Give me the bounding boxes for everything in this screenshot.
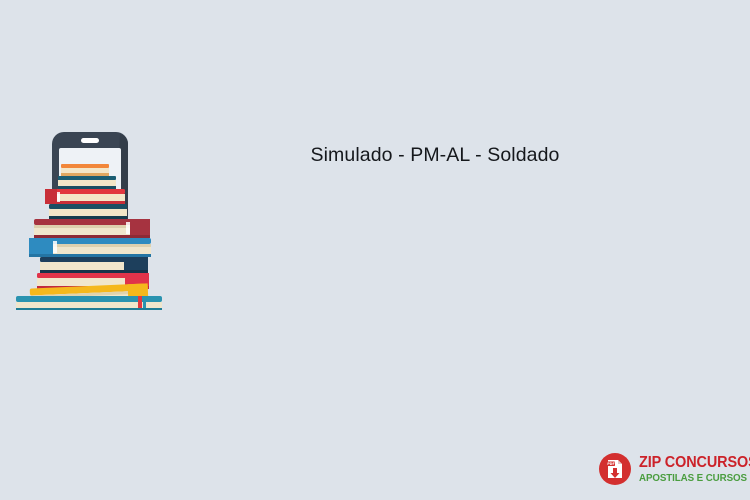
- book-dark-navy: [40, 257, 148, 273]
- book-dark-red: [34, 219, 150, 238]
- book-red-upper: [45, 189, 125, 204]
- book-teal-base: [16, 296, 162, 310]
- svg-text:PDF: PDF: [607, 462, 615, 466]
- brand-wordmark: ZIP CONCURSOS APOSTILAS E CURSOS: [639, 455, 750, 484]
- page-title: Simulado - PM-AL - Soldado: [180, 144, 690, 167]
- book-orange: [61, 164, 109, 176]
- pdf-download-circle-icon: PDF: [598, 452, 632, 486]
- brand-logo[interactable]: PDF ZIP CONCURSOS APOSTILAS E CURSOS: [598, 450, 750, 488]
- stack-of-books-illustration: [12, 130, 167, 310]
- book-navy: [49, 204, 127, 219]
- brand-secondary-text: APOSTILAS E CURSOS: [639, 473, 750, 484]
- bookmark-ribbon: [138, 296, 142, 308]
- book-teal-top: [58, 176, 116, 189]
- book-blue: [29, 238, 151, 257]
- brand-primary-text: ZIP CONCURSOS: [639, 455, 750, 471]
- slide-canvas: Simulado - PM-AL - Soldado PDF ZIP CONCU…: [0, 0, 750, 500]
